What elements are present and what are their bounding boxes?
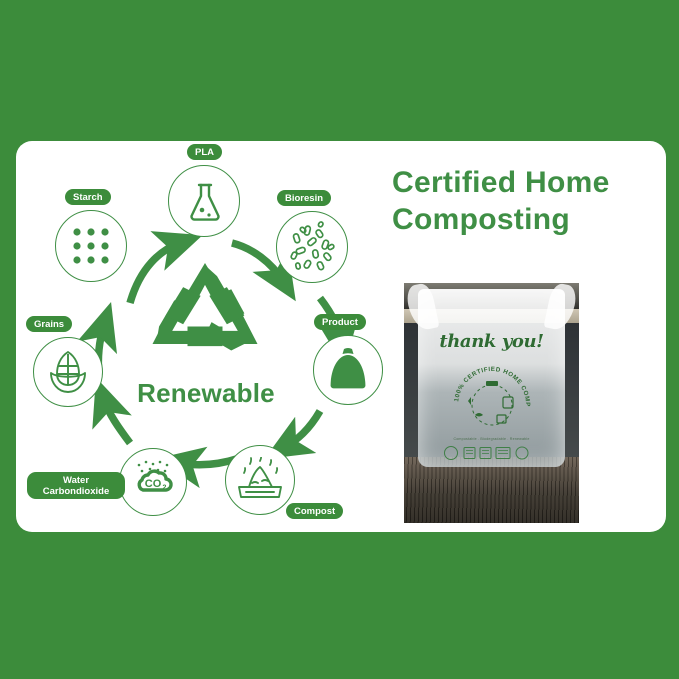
cycle-node-product-label: Product: [314, 314, 366, 330]
cycle-node-pla[interactable]: PLA: [168, 165, 240, 237]
page-title-line2: Composting: [392, 201, 672, 238]
cycle-node-product[interactable]: Product: [313, 335, 383, 405]
water-label-line1: Water: [63, 475, 89, 486]
cycle-node-grains-label: Grains: [26, 316, 72, 332]
cycle-node-bioresin-label: Bioresin: [277, 190, 331, 206]
cycle-node-starch[interactable]: Starch: [55, 210, 127, 282]
flask-icon: [188, 182, 222, 222]
svg-text:CO: CO: [145, 478, 162, 490]
page-title-line1: Certified Home: [392, 164, 672, 201]
recycle-icon: [150, 263, 260, 368]
starch-dots-icon: [69, 224, 113, 268]
corn-icon: [48, 349, 88, 395]
cycle-node-bioresin[interactable]: Bioresin: [276, 211, 348, 283]
product-photo: thank you! 100% CERTIFIED HOME COMPOSTAB…: [404, 283, 579, 523]
cycle-node-water-carbondioxide[interactable]: CO 2 Water Carbondioxide: [119, 448, 187, 516]
cycle-node-water-label: Water Carbondioxide: [27, 472, 125, 499]
bag-icon: [328, 347, 368, 393]
cycle-node-compost[interactable]: Compost: [225, 445, 295, 515]
bag-thank-you-text: thank you!: [418, 331, 565, 352]
renewable-label: Renewable: [120, 378, 292, 409]
svg-text:2: 2: [163, 485, 167, 492]
page-title: Certified Home Composting: [392, 164, 672, 238]
co2-cloud-icon: CO 2: [129, 458, 177, 506]
cycle-node-starch-label: Starch: [65, 189, 111, 205]
cycle-node-pla-label: PLA: [187, 144, 222, 160]
compostable-bag: thank you! 100% CERTIFIED HOME COMPOSTAB…: [418, 289, 565, 467]
bag-footer-text: Compostable . Biodegradable . Renewable: [418, 437, 565, 441]
resin-pellets-icon: [285, 220, 339, 274]
cycle-node-compost-label: Compost: [286, 503, 343, 519]
bag-certification-logos: [442, 445, 542, 461]
bag-compostable-mark: 100% CERTIFIED HOME COMPOSTABLE: [451, 357, 533, 433]
cycle-node-grains[interactable]: Grains: [33, 337, 103, 407]
compost-pile-icon: [236, 457, 284, 503]
water-label-line2: Carbondioxide: [43, 486, 110, 497]
